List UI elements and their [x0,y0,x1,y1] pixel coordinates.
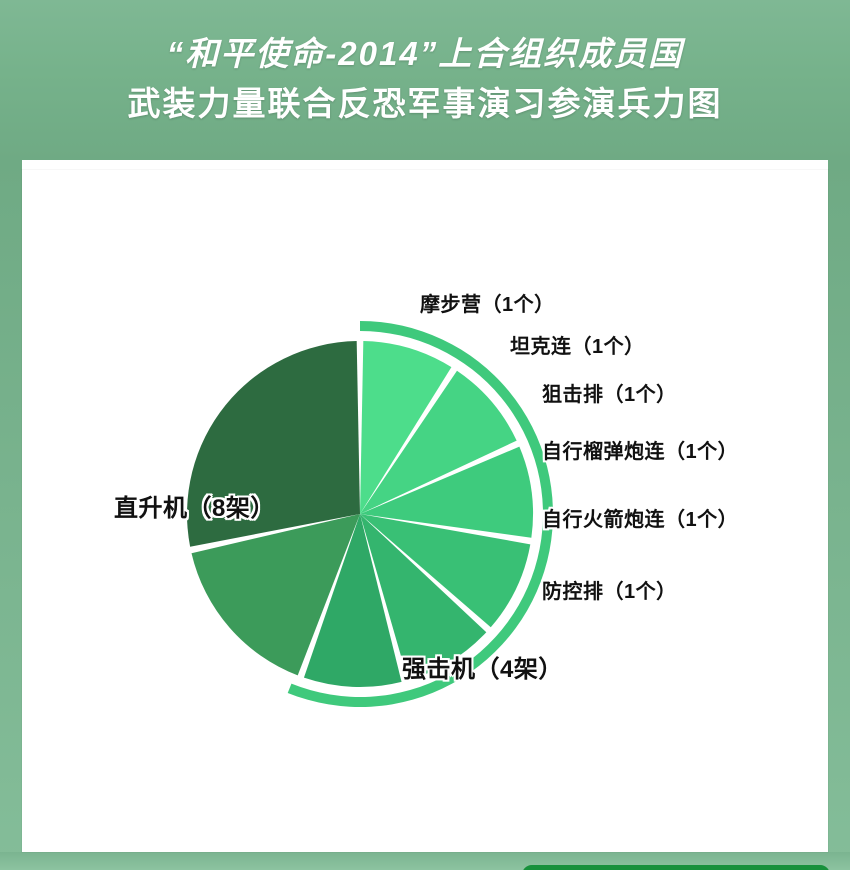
pie-chart: 摩步营（1个）坦克连（1个）狙击排（1个）自行榴弹炮连（1个）自行火箭炮连（1个… [22,170,828,852]
page-title-line2: 武装力量联合反恐军事演习参演兵力图 [128,80,723,128]
content-card: 摩步营（1个）坦克连（1个）狙击排（1个）自行榴弹炮连（1个）自行火箭炮连（1个… [22,170,828,852]
frame-right [828,160,850,870]
pie-slice-label: 防控排（1个） [542,575,677,604]
frame-left [0,160,22,870]
infographic-page: “和平使命-2014”上合组织成员国 武装力量联合反恐军事演习参演兵力图 摩步营… [0,0,850,870]
pie-slice-label: 强击机（4架） [402,649,563,684]
pie-slice-label: 狙击排（1个） [542,378,677,407]
pie-slice-label: 摩步营（1个） [420,288,555,317]
pie-slice-label: 直升机（8架） [114,488,275,523]
pie-slice-label: 自行火箭炮连（1个） [542,503,738,532]
pie-slice-label: 坦克连（1个） [510,330,645,359]
pie-slice-label: 自行榴弹炮连（1个） [542,435,738,464]
caption-box: 俄方参演兵力 [522,865,830,870]
page-title-line1: “和平使命-2014”上合组织成员国 [167,32,683,76]
header-banner: “和平使命-2014”上合组织成员国 武装力量联合反恐军事演习参演兵力图 [0,0,850,160]
